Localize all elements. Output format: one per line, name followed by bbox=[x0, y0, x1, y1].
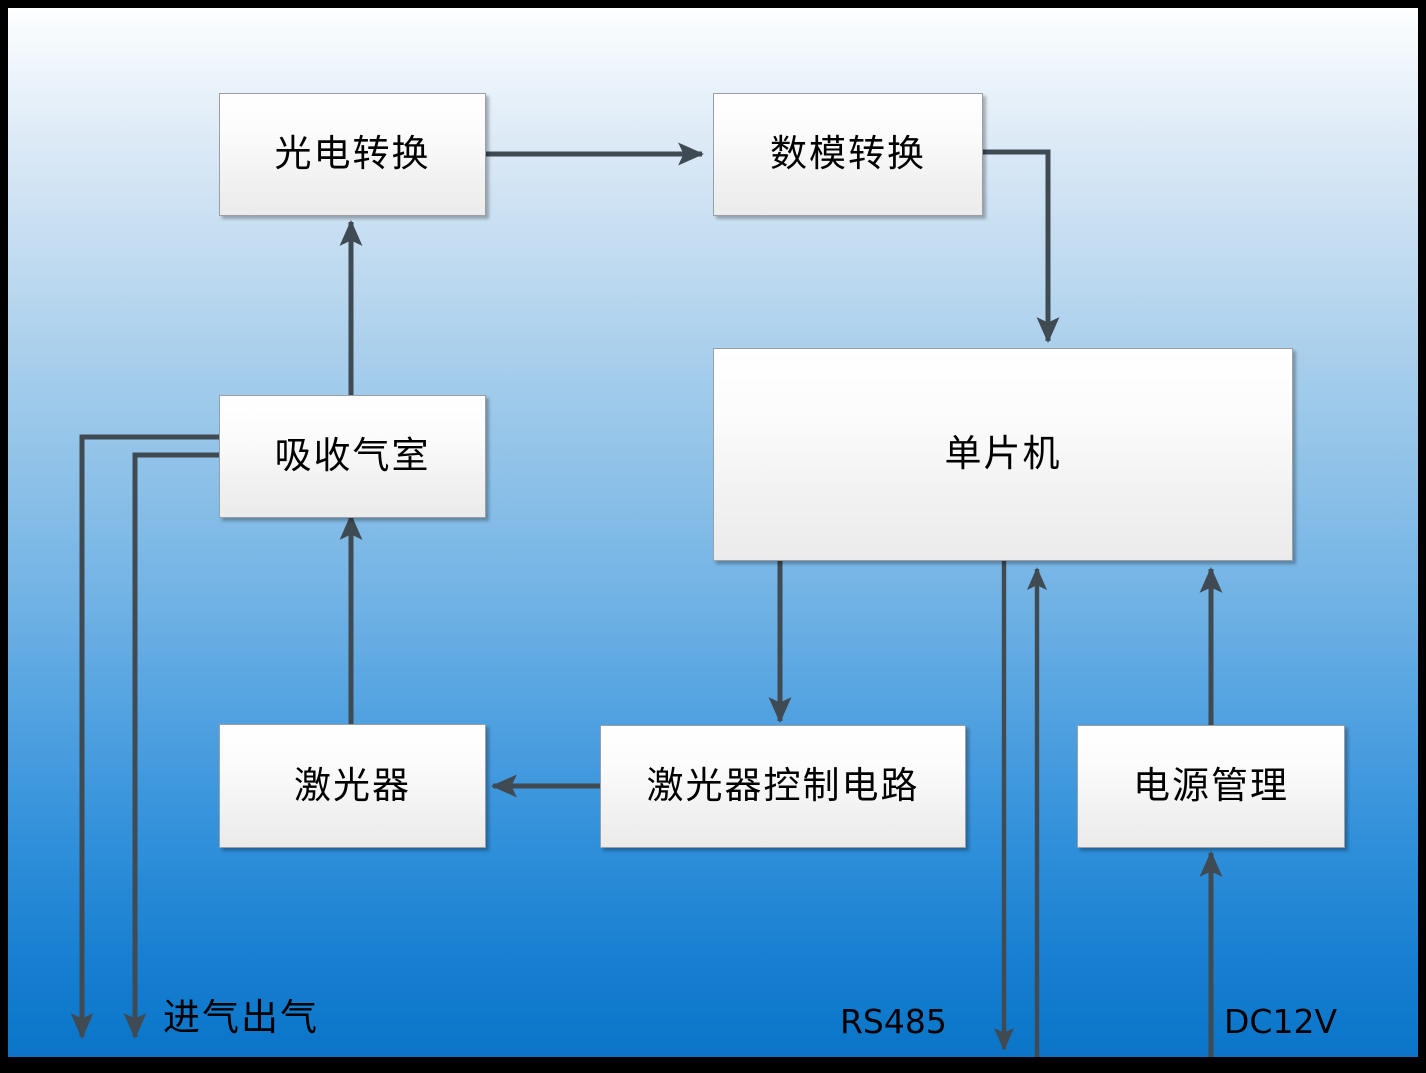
block-laser-control-circuit[interactable]: 激光器控制电路 bbox=[600, 725, 966, 848]
port-label-gas-inlet-outlet: 进气出气 bbox=[163, 1000, 319, 1037]
block-photoelectric-conversion[interactable]: 光电转换 bbox=[219, 93, 486, 216]
block-label: 激光器控制电路 bbox=[647, 768, 920, 805]
connector-gascell-gas-out bbox=[135, 455, 220, 1037]
block-laser[interactable]: 激光器 bbox=[219, 724, 486, 848]
port-label-rs485: RS485 bbox=[840, 1005, 947, 1038]
block-absorption-gas-cell[interactable]: 吸收气室 bbox=[219, 395, 486, 518]
block-label: 数模转换 bbox=[770, 136, 926, 173]
block-label: 单片机 bbox=[945, 436, 1062, 473]
block-power-management[interactable]: 电源管理 bbox=[1077, 725, 1345, 848]
block-label: 光电转换 bbox=[275, 136, 431, 173]
diagram-frame: 光电转换 数模转换 吸收气室 单片机 激光器 激光器控制电路 电源管理 进气出气… bbox=[8, 8, 1418, 1057]
block-microcontroller[interactable]: 单片机 bbox=[713, 348, 1293, 561]
diagram-canvas: 光电转换 数模转换 吸收气室 单片机 激光器 激光器控制电路 电源管理 进气出气… bbox=[0, 0, 1426, 1073]
block-label: 激光器 bbox=[294, 768, 411, 805]
port-label-dc12v: DC12V bbox=[1224, 1005, 1337, 1038]
block-label: 电源管理 bbox=[1133, 768, 1289, 805]
block-label: 吸收气室 bbox=[275, 438, 431, 475]
block-digital-analog-conversion[interactable]: 数模转换 bbox=[713, 93, 983, 216]
connector-gascell-gas-in bbox=[82, 437, 220, 1037]
connector-dac-to-mcu bbox=[983, 152, 1048, 341]
